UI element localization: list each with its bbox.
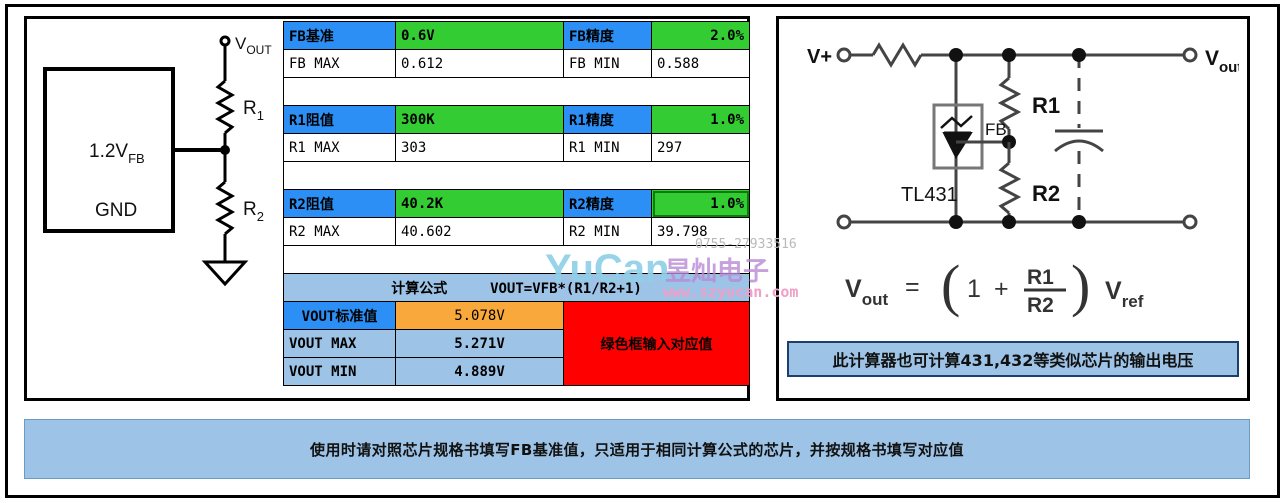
bottom-note-text: 使用时请对照芯片规格书填写FB基准值，只适用于相同计算公式的芯片，并按规格书填写…: [310, 439, 964, 460]
formula-row: 计算公式 VOUT=VFB*(R1/R2+1): [284, 274, 750, 302]
r1-accuracy-input[interactable]: 1.0%: [652, 106, 750, 134]
table-row: R1 MAX 303 R1 MIN 297: [284, 134, 750, 162]
tl431-label: TL431: [901, 184, 958, 206]
r2-max-value: 40.602: [396, 218, 564, 246]
vout-std-label: VOUT标准值: [284, 302, 396, 330]
table-row: R2阻值 40.2K R2精度 1.0%: [284, 190, 750, 218]
right-r2-label: R2: [1032, 181, 1060, 206]
fb-min-value: 0.588: [652, 50, 750, 78]
r2-min-value: 39.798: [652, 218, 750, 246]
table-row: R1阻值 300K R1精度 1.0%: [284, 106, 750, 134]
spacer: [284, 162, 750, 190]
formula-body: VOUT=VFB*(R1/R2+1): [490, 281, 642, 297]
fb-min-label: FB MIN: [564, 50, 652, 78]
r2-value-label: R2阻值: [284, 190, 396, 218]
right-vplus-label: V+: [807, 46, 832, 68]
left-vout-label: VOUT: [235, 34, 272, 57]
r2-accuracy-input[interactable]: 1.0%: [652, 190, 750, 218]
table-row: R2 MAX 40.602 R2 MIN 39.798: [284, 218, 750, 246]
formula-vref: Vref: [1105, 277, 1144, 311]
vout-max-value: 5.271V: [396, 330, 564, 358]
calc-table-body: FB基准 0.6V FB精度 2.0% FB MAX 0.612 FB MIN …: [284, 22, 750, 386]
vout-max-label: VOUT MAX: [284, 330, 396, 358]
left-panel: VOUT R1 R2 1.2VFB GND FB基准: [24, 16, 750, 401]
bottom-note-banner: 使用时请对照芯片规格书填写FB基准值，只适用于相同计算公式的芯片，并按规格书填写…: [24, 419, 1250, 479]
formula-numerator: R1: [1027, 266, 1054, 289]
vout-formula: Vout = ( 1 + R1 R2 ) Vref: [789, 255, 1239, 321]
formula-close-paren: ): [1071, 255, 1090, 318]
r2-min-label: R2 MIN: [564, 218, 652, 246]
formula-vout: Vout: [845, 275, 888, 309]
table-row: VOUT标准值 5.078V 绿色框输入对应值: [284, 302, 750, 330]
spacer: [284, 246, 750, 274]
r1-max-value: 303: [396, 134, 564, 162]
vout-std-value: 5.078V: [396, 302, 564, 330]
fb-max-value: 0.612: [396, 50, 564, 78]
table-row: FB MAX 0.612 FB MIN 0.588: [284, 50, 750, 78]
formula-plus: +: [994, 275, 1009, 303]
fb-node-label: FB: [985, 120, 1007, 139]
formula-one: 1: [967, 275, 981, 303]
left-r1-label: R1: [243, 98, 264, 123]
r2-max-label: R2 MAX: [284, 218, 396, 246]
fb-accuracy-label: FB精度: [564, 22, 652, 50]
vout-min-value: 4.889V: [396, 358, 564, 386]
table-row: FB基准 0.6V FB精度 2.0%: [284, 22, 750, 50]
table-row: 计算公式 VOUT=VFB*(R1/R2+1): [284, 274, 750, 302]
formula-denominator: R2: [1027, 294, 1054, 317]
chip-gnd-label: GND: [95, 200, 137, 221]
r1-min-value: 297: [652, 134, 750, 162]
tl431-schematic: V+ Vout R1 R2 FB TL431: [789, 23, 1239, 253]
r1-value-input[interactable]: 300K: [396, 106, 564, 134]
formula-title: 计算公式: [391, 281, 447, 297]
fb-ref-label: FB基准: [284, 22, 396, 50]
app-root: VOUT R1 R2 1.2VFB GND FB基准: [0, 0, 1286, 503]
vout-min-label: VOUT MIN: [284, 358, 396, 386]
fb-max-label: FB MAX: [284, 50, 396, 78]
r1-accuracy-label: R1精度: [564, 106, 652, 134]
right-note-banner: 此计算器也可计算431,432等类似芯片的输出电压: [787, 341, 1239, 377]
right-r1-label: R1: [1032, 93, 1060, 118]
fb-ref-input[interactable]: 0.6V: [396, 22, 564, 50]
fb-accuracy-input[interactable]: 2.0%: [652, 22, 750, 50]
r1-max-label: R1 MAX: [284, 134, 396, 162]
table-spacer-row: [284, 162, 750, 190]
table-spacer-row: [284, 78, 750, 106]
left-r2-label: R2: [243, 199, 264, 224]
right-vout-label: Vout: [1205, 47, 1239, 76]
r1-min-label: R1 MIN: [564, 134, 652, 162]
green-box-hint: 绿色框输入对应值: [564, 302, 750, 386]
table-spacer-row: [284, 246, 750, 274]
r1-value-label: R1阻值: [284, 106, 396, 134]
spacer: [284, 78, 750, 106]
feedback-divider-schematic: VOUT R1 R2 1.2VFB GND: [27, 19, 285, 398]
r2-accuracy-label: R2精度: [564, 190, 652, 218]
formula-open-paren: (: [941, 255, 960, 318]
right-note-text: 此计算器也可计算431,432等类似芯片的输出电压: [833, 347, 1194, 371]
formula-equals: =: [905, 273, 920, 301]
calculation-table: FB基准 0.6V FB精度 2.0% FB MAX 0.612 FB MIN …: [283, 21, 750, 386]
right-panel: V+ Vout R1 R2 FB TL431 Vout = ( 1 + R1 R…: [776, 16, 1250, 401]
r2-value-input[interactable]: 40.2K: [396, 190, 564, 218]
